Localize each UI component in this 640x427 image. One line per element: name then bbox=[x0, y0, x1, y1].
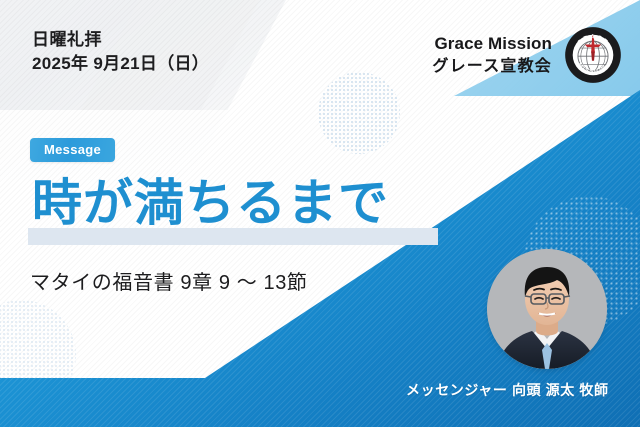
sermon-title: 時が満ちるまで bbox=[28, 176, 389, 230]
scripture-reference: マタイの福音書 9章 9 〜 13節 bbox=[30, 266, 308, 295]
service-info: 日曜礼拝 2025年 9月21日（日） bbox=[32, 28, 209, 76]
organization-names: Grace Mission グレース宣教会 bbox=[432, 32, 552, 78]
sermon-title-block: 時が満ちるまで bbox=[28, 176, 389, 230]
org-name-jp: グレース宣教会 bbox=[432, 56, 552, 78]
organization-branding: Grace Mission グレース宣教会 GRACE MISSIO bbox=[432, 26, 622, 84]
messenger-caption: メッセンジャー 向頭 源太 牧師 bbox=[406, 380, 609, 400]
service-label: 日曜礼拝 bbox=[32, 28, 209, 52]
org-name-en: Grace Mission bbox=[432, 32, 552, 55]
sermon-title-slide: 日曜礼拝 2025年 9月21日（日） Grace Mission グレース宣教… bbox=[0, 0, 640, 427]
speaker-portrait-photo bbox=[487, 249, 607, 369]
service-date: 2025年 9月21日（日） bbox=[32, 52, 209, 76]
grace-mission-globe-cross-emblem: GRACE MISSION bbox=[564, 26, 622, 84]
message-badge: Message bbox=[30, 138, 115, 162]
